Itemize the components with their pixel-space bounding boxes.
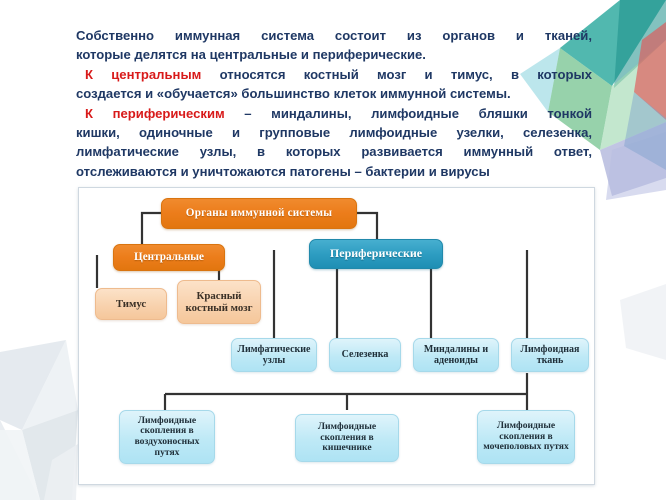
paragraph-3-line-2: кишки, одиночные и групповые лимфоидные …: [76, 123, 592, 142]
diagram-panel: Органы иммунной системы Центральные Пери…: [78, 187, 595, 485]
node-root[interactable]: Органы иммунной системы: [161, 198, 357, 229]
highlight-peripheral: К периферическим: [85, 106, 225, 121]
deco-shape-grey-1: [0, 340, 66, 430]
paragraph-3-rest: – миндалины, лимфоидные бляшки тонкой: [225, 106, 592, 121]
node-intestine-clusters[interactable]: Лимфоидные скопления в кишечнике: [295, 414, 399, 462]
deco-shape-periwinkle-2: [606, 132, 666, 200]
paragraph-3-line-3: лимфатические узлы, в которых развиваетс…: [76, 142, 592, 161]
deco-shape-grey-6: [44, 444, 78, 500]
node-airway-clusters[interactable]: Лимфоидные скопления в воздухоносных пут…: [119, 410, 215, 464]
node-urogenital-clusters[interactable]: Лимфоидные скопления в мочеполовых путях: [477, 410, 575, 464]
node-tonsils[interactable]: Миндалины и аденоиды: [413, 338, 499, 372]
slide-text-block: Собственно иммунная система состоит из о…: [76, 26, 592, 181]
node-lymph-nodes[interactable]: Лимфатические узлы: [231, 338, 317, 372]
node-bone-marrow[interactable]: Красный костный мозг: [177, 280, 261, 324]
deco-shape-teal-dark: [614, 0, 666, 88]
deco-shape-grey-4: [22, 410, 78, 500]
node-peripheral[interactable]: Периферические: [309, 239, 443, 269]
paragraph-2-line-1: К центральным относятся костный мозг и т…: [76, 65, 592, 84]
deco-shape-periwinkle: [600, 122, 666, 196]
node-thymus[interactable]: Тимус: [95, 288, 167, 320]
deco-shape-grey-right: [620, 284, 666, 360]
node-spleen[interactable]: Селезенка: [329, 338, 401, 372]
deco-shape-grey-2: [22, 340, 78, 430]
paragraph-2-rest: относятся костный мозг и тимус, в которы…: [201, 67, 592, 82]
paragraph-3-line-4: отслеживаются и уничтожаются патогены – …: [76, 162, 592, 181]
paragraph-2-line-2: создается и «обучается» большинство клет…: [76, 84, 592, 103]
node-central[interactable]: Центральные: [113, 244, 225, 271]
paragraph-3-line-1: К периферическим – миндалины, лимфоидные…: [76, 104, 592, 123]
diagram-canvas: Органы иммунной системы Центральные Пери…: [79, 188, 594, 484]
paragraph-1-line-2: которые делятся на центральные и перифер…: [76, 45, 592, 64]
deco-shape-grey-5: [0, 430, 40, 500]
paragraph-1-line-1: Собственно иммунная система состоит из о…: [76, 26, 592, 45]
node-lymphoid-tissue[interactable]: Лимфоидная ткань: [511, 338, 589, 372]
deco-shape-green-light: [600, 40, 666, 150]
deco-shape-red: [634, 22, 666, 120]
deco-shape-grey-3: [0, 420, 40, 500]
highlight-central: К центральным: [85, 67, 201, 82]
deco-shape-steelblue: [624, 92, 666, 170]
